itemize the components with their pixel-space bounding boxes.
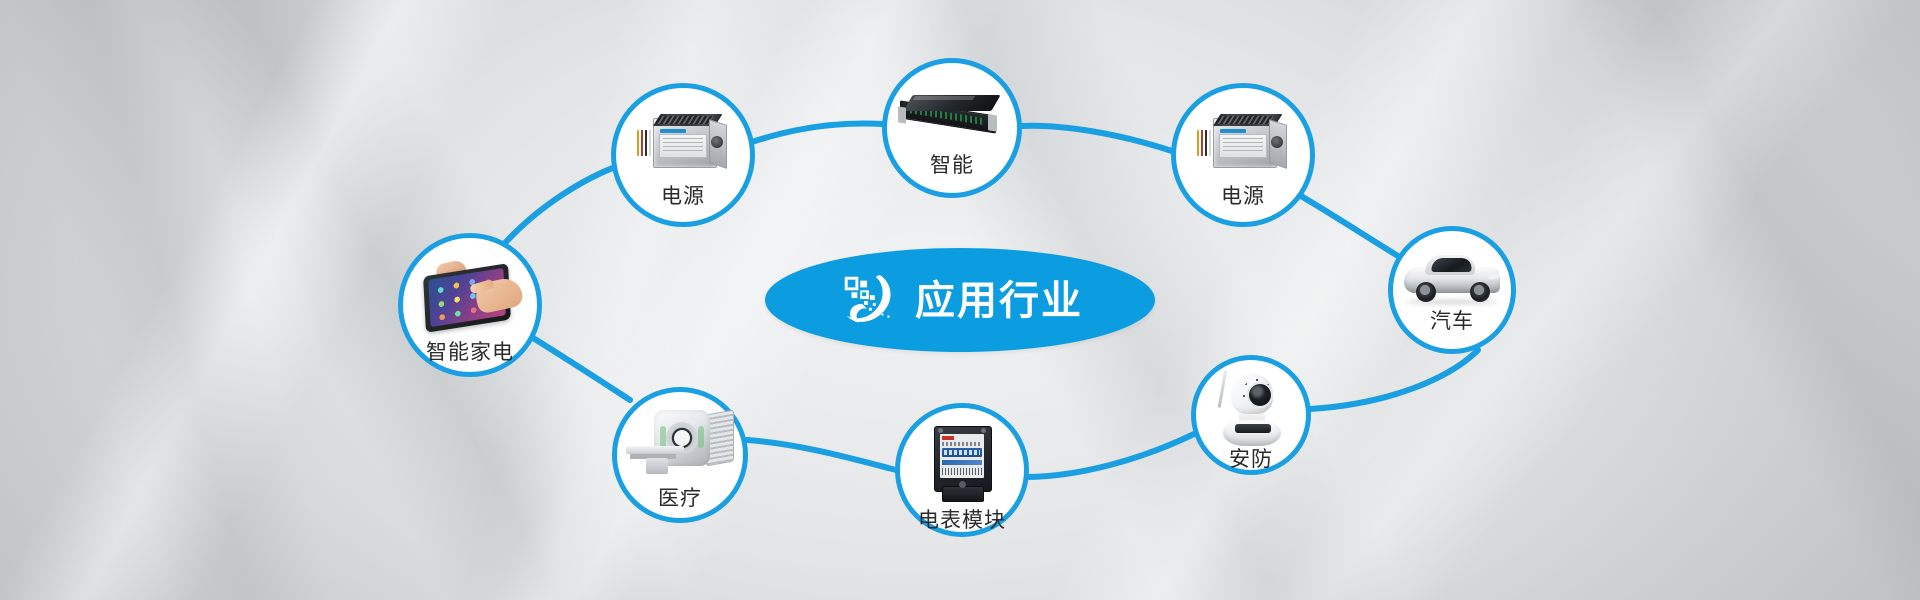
node-label-power-2: 电源 <box>1221 186 1265 207</box>
electric-meter-icon <box>930 424 994 504</box>
node-label-smart: 智能 <box>930 155 974 176</box>
center-badge-title: 应用行业 <box>915 281 1083 321</box>
node-power-2[interactable]: 电源 <box>1171 83 1315 227</box>
mri-scanner-icon <box>624 408 736 478</box>
node-medical[interactable]: 医疗 <box>612 387 748 523</box>
power-supply-icon <box>1195 112 1291 174</box>
node-label-smart-home: 智能家电 <box>426 342 514 363</box>
sports-car-icon <box>1400 249 1504 305</box>
center-badge: 应用行业 <box>765 248 1155 352</box>
orbit-swoosh-logo-icon <box>837 269 899 331</box>
node-label-medical: 医疗 <box>658 488 702 509</box>
node-label-power-1: 电源 <box>661 186 705 207</box>
node-power-1[interactable]: 电源 <box>611 83 755 227</box>
application-industries-banner: 电源 智能 电源 汽车 安防 <box>0 0 1920 600</box>
node-label-automotive: 汽车 <box>1430 311 1474 332</box>
node-label-meter-module: 电表模块 <box>918 510 1006 531</box>
power-supply-icon <box>635 112 731 174</box>
ip-camera-icon <box>1215 370 1287 447</box>
connector-meter-medical <box>747 440 896 470</box>
connector-auto-security <box>1310 350 1478 409</box>
node-label-security: 安防 <box>1229 449 1273 470</box>
rack-server-icon <box>900 93 1004 139</box>
node-automotive[interactable]: 汽车 <box>1388 226 1516 354</box>
connector-smarthome-power1 <box>505 166 618 243</box>
tablet-hand-icon <box>418 260 522 332</box>
node-smart-home[interactable]: 智能家电 <box>398 233 542 377</box>
node-meter-module[interactable]: 电表模块 <box>895 403 1029 537</box>
node-smart[interactable]: 智能 <box>882 58 1022 198</box>
connector-power1-smart <box>752 124 882 142</box>
connector-smart-power2 <box>1021 126 1175 152</box>
node-security[interactable]: 安防 <box>1191 355 1311 475</box>
connector-security-meter <box>1029 434 1194 477</box>
